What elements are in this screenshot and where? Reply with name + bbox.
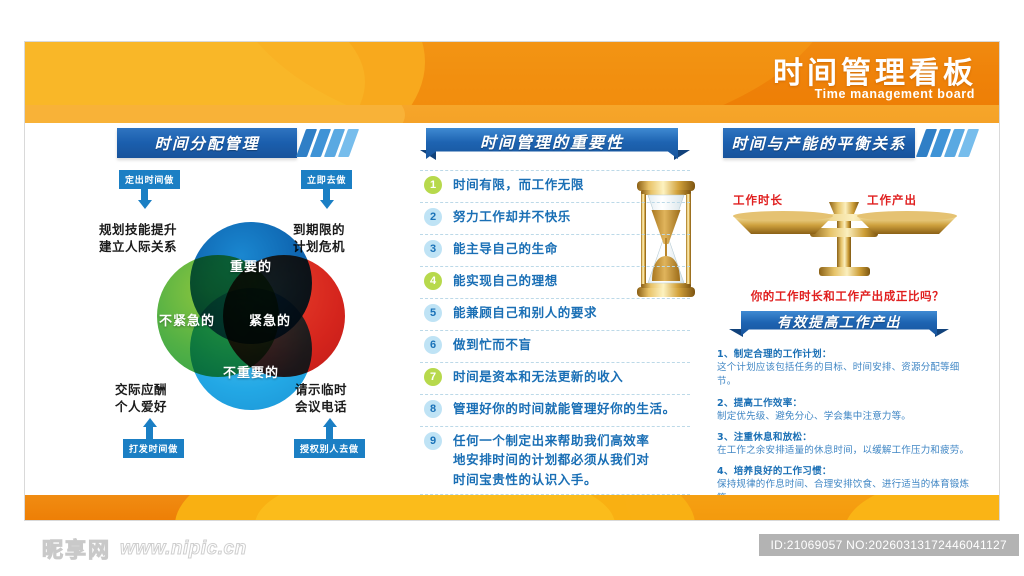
list-item: 3能主导自己的生命 bbox=[420, 235, 690, 267]
subribbon-wing-right bbox=[935, 329, 949, 337]
tip-description: 制定优先级、避免分心、学会集中注意力等。 bbox=[717, 410, 978, 424]
page-title-en: Time management board bbox=[815, 87, 975, 101]
venn-diagram: 重要的 紧急的 不重要的 不紧急的 bbox=[157, 222, 345, 410]
list-item-text: 时间是资本和无法更新的收入 bbox=[453, 367, 623, 386]
image-id-badge: ID:21069057 NO:20260313172446041127 bbox=[759, 534, 1019, 556]
list-item-number: 1 bbox=[424, 176, 442, 194]
list-item-text: 时间有限，而工作无限 bbox=[453, 175, 584, 194]
tip-title: 1、制定合理的工作计划： bbox=[717, 346, 978, 360]
arrow-stem-bl bbox=[146, 427, 153, 439]
list-item-number: 9 bbox=[424, 432, 442, 450]
scale-label-right: 工作产出 bbox=[867, 192, 917, 208]
left-heading-slashes bbox=[301, 129, 354, 157]
arrow-up-br bbox=[323, 418, 337, 427]
header-accent-swoosh bbox=[25, 105, 405, 123]
footer-band bbox=[25, 495, 999, 520]
arrow-stem-tl bbox=[141, 188, 148, 200]
list-item: 7时间是资本和无法更新的收入 bbox=[420, 363, 690, 395]
tips-list: 1、制定合理的工作计划：这个计划应该包括任务的目标、时间安排、资源分配等细节。2… bbox=[715, 346, 980, 520]
list-item-number: 3 bbox=[424, 240, 442, 258]
footer-swoosh-2 bbox=[255, 495, 615, 520]
list-item-number: 5 bbox=[424, 304, 442, 322]
right-subheading: 有效提高工作产出 bbox=[715, 311, 980, 337]
left-panel: 时间分配管理 定出时间做 立即去做 规划技能提升 建立人际关系 到期限的 bbox=[105, 128, 405, 470]
watermark-brand: 昵享网 bbox=[42, 534, 111, 564]
header-banner: 时间管理看板 Time management board bbox=[25, 42, 999, 105]
scale-label-left: 工作时长 bbox=[733, 192, 783, 208]
middle-heading-plate: 时间管理的重要性 bbox=[426, 128, 678, 159]
right-panel: 时间与产能的平衡关系 bbox=[715, 128, 980, 520]
tag-bottom-right: 授权别人去做 bbox=[294, 439, 365, 458]
tip-title: 2、提高工作效率： bbox=[717, 395, 978, 409]
arrow-up-bl bbox=[143, 418, 157, 427]
right-heading-slashes bbox=[921, 129, 974, 157]
list-item-number: 4 bbox=[424, 272, 442, 290]
arrow-down-tr bbox=[320, 200, 334, 209]
page-title-cn: 时间管理看板 bbox=[773, 48, 977, 92]
tip-title: 4、培养良好的工作习惯： bbox=[717, 463, 978, 477]
venn-label-important: 重要的 bbox=[157, 256, 345, 275]
arrow-down-tl bbox=[138, 200, 152, 209]
tag-bottom-left: 打发时间做 bbox=[123, 439, 184, 458]
balance-scale-icon bbox=[715, 164, 980, 292]
left-heading-text: 时间分配管理 bbox=[154, 132, 259, 154]
list-item: 5能兼顾自己和别人的要求 bbox=[420, 299, 690, 331]
list-item: 6做到忙而不盲 bbox=[420, 331, 690, 363]
list-item-text: 能实现自己的理想 bbox=[453, 271, 558, 290]
list-item-text: 努力工作却并不快乐 bbox=[453, 207, 571, 226]
venn-label-not-urgent: 不紧急的 bbox=[159, 310, 215, 329]
right-heading-plate: 时间与产能的平衡关系 bbox=[723, 128, 915, 158]
venn-label-not-important: 不重要的 bbox=[157, 362, 345, 381]
list-item: 8管理好你的时间就能管理好你的生活。 bbox=[420, 395, 690, 427]
list-item-number: 7 bbox=[424, 368, 442, 386]
footer-swoosh-4 bbox=[845, 495, 999, 520]
arrow-stem-tr bbox=[323, 188, 330, 200]
tag-top-right: 立即去做 bbox=[301, 170, 352, 189]
list-item-text: 能兼顾自己和别人的要求 bbox=[453, 303, 597, 322]
board: 时间管理看板 Time management board 时间分配管理 定出时间… bbox=[25, 42, 999, 520]
right-subheading-text: 有效提高工作产出 bbox=[777, 312, 901, 332]
left-heading-plate: 时间分配管理 bbox=[117, 128, 297, 158]
list-item-number: 2 bbox=[424, 208, 442, 226]
tip-title: 3、注重休息和放松： bbox=[717, 429, 978, 443]
left-panel-heading: 时间分配管理 bbox=[105, 128, 405, 158]
balance-scale-illustration: 工作时长 工作产出 bbox=[715, 164, 980, 292]
list-item: 4能实现自己的理想 bbox=[420, 267, 690, 299]
subribbon-wing-left bbox=[729, 329, 743, 337]
header-accent-band bbox=[25, 105, 999, 123]
middle-heading-text: 时间管理的重要性 bbox=[480, 129, 624, 153]
list-item-number: 6 bbox=[424, 336, 442, 354]
list-item-text: 能主导自己的生命 bbox=[453, 239, 558, 258]
list-item-text: 管理好你的时间就能管理好你的生活。 bbox=[453, 399, 676, 418]
list-item-text: 任何一个制定出来帮助我们高效率地安排时间的计划都必须从我们对时间宝贵性的认识入手… bbox=[453, 431, 653, 489]
middle-panel: 时间管理的重要性 bbox=[420, 128, 690, 495]
time-matrix: 定出时间做 立即去做 规划技能提升 建立人际关系 到期限的 计划危机 交际应酬 … bbox=[105, 170, 405, 470]
poster-canvas: 时间管理看板 Time management board 时间分配管理 定出时间… bbox=[0, 0, 1024, 576]
importance-list: 1时间有限，而工作无限2努力工作却并不快乐3能主导自己的生命4能实现自己的理想5… bbox=[420, 170, 690, 495]
watermark-url: www.nipic.cn bbox=[120, 538, 247, 560]
tip-description: 在工作之余安排适量的休息时间，以缓解工作压力和疲劳。 bbox=[717, 444, 978, 458]
right-subheading-plate: 有效提高工作产出 bbox=[741, 311, 937, 336]
venn-label-urgent: 紧急的 bbox=[249, 310, 291, 329]
list-item-text: 做到忙而不盲 bbox=[453, 335, 532, 354]
tag-top-left: 定出时间做 bbox=[119, 170, 180, 189]
right-heading-text: 时间与产能的平衡关系 bbox=[731, 132, 906, 154]
list-item-number: 8 bbox=[424, 400, 442, 418]
arrow-stem-br bbox=[326, 427, 333, 439]
right-panel-heading: 时间与产能的平衡关系 bbox=[715, 128, 980, 158]
tip-description: 这个计划应该包括任务的目标、时间安排、资源分配等细节。 bbox=[717, 361, 978, 390]
watermark: 昵享网 www.nipic.cn bbox=[42, 534, 247, 564]
middle-panel-heading: 时间管理的重要性 bbox=[420, 128, 690, 162]
list-item: 1时间有限，而工作无限 bbox=[420, 170, 690, 203]
list-item: 9任何一个制定出来帮助我们高效率地安排时间的计划都必须从我们对时间宝贵性的认识入… bbox=[420, 427, 690, 495]
list-item: 2努力工作却并不快乐 bbox=[420, 203, 690, 235]
